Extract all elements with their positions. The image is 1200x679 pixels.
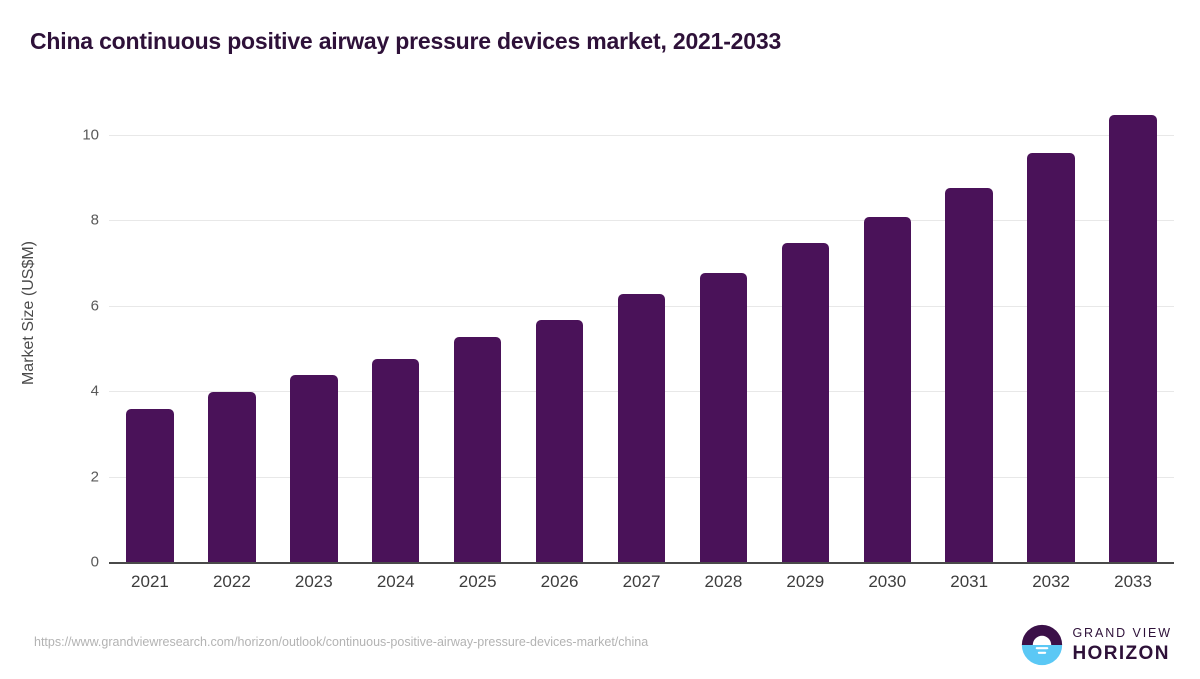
x-tick-label: 2023 <box>273 572 355 592</box>
bar[interactable] <box>864 217 912 562</box>
x-tick-label: 2024 <box>355 572 437 592</box>
chart-card: China continuous positive airway pressur… <box>4 4 1196 671</box>
bar-group: 2029 <box>764 4 846 562</box>
x-tick-label: 2029 <box>764 572 846 592</box>
y-tick-label: 6 <box>59 297 99 314</box>
x-tick-label: 2027 <box>601 572 683 592</box>
y-tick-label: 0 <box>59 554 99 571</box>
x-tick-label: 2031 <box>928 572 1010 592</box>
bar-group: 2032 <box>1010 4 1092 562</box>
y-axis-title: Market Size (US$M) <box>20 113 38 513</box>
bar-group: 2027 <box>601 4 683 562</box>
bar[interactable] <box>618 294 666 562</box>
grand-view-horizon-logo[interactable]: GRAND VIEW HORIZON <box>1021 622 1172 668</box>
x-tick-label: 2021 <box>109 572 191 592</box>
x-tick-label: 2028 <box>682 572 764 592</box>
bar[interactable] <box>372 359 420 562</box>
bar[interactable] <box>1027 153 1075 562</box>
bar-series: 2021202220232024202520262027202820292030… <box>109 4 1174 562</box>
bar-group: 2026 <box>519 4 601 562</box>
bar-group: 2022 <box>191 4 273 562</box>
bar-group: 2025 <box>437 4 519 562</box>
bar-group: 2033 <box>1092 4 1174 562</box>
y-tick-label: 10 <box>59 126 99 143</box>
x-tick-label: 2026 <box>519 572 601 592</box>
bar-group: 2023 <box>273 4 355 562</box>
bar-group: 2024 <box>355 4 437 562</box>
y-tick-label: 8 <box>59 212 99 229</box>
bar[interactable] <box>945 188 993 562</box>
bar-group: 2030 <box>846 4 928 562</box>
bar[interactable] <box>208 392 256 562</box>
y-tick-label: 4 <box>59 383 99 400</box>
bar[interactable] <box>290 375 338 562</box>
bar-group: 2021 <box>109 4 191 562</box>
x-tick-label: 2032 <box>1010 572 1092 592</box>
x-tick-label: 2022 <box>191 572 273 592</box>
x-tick-label: 2033 <box>1092 572 1174 592</box>
bar[interactable] <box>126 409 174 562</box>
logo-line-horizon: HORIZON <box>1072 644 1172 663</box>
x-tick-label: 2025 <box>437 572 519 592</box>
y-tick-label: 2 <box>59 468 99 485</box>
x-axis-line <box>109 562 1174 564</box>
bar-group: 2031 <box>928 4 1010 562</box>
logo-wordmark: GRAND VIEW HORIZON <box>1072 627 1172 663</box>
source-url[interactable]: https://www.grandviewresearch.com/horizo… <box>34 635 648 649</box>
bar[interactable] <box>1109 115 1157 562</box>
bar-group: 2028 <box>682 4 764 562</box>
bar[interactable] <box>700 273 748 562</box>
y-axis-ticks: 0246810 <box>49 4 99 679</box>
bar[interactable] <box>536 320 584 562</box>
logo-line-grand-view: GRAND VIEW <box>1072 627 1172 640</box>
horizon-circle-icon <box>1021 624 1063 666</box>
x-tick-label: 2030 <box>846 572 928 592</box>
bar[interactable] <box>782 243 830 562</box>
bar[interactable] <box>454 337 502 562</box>
